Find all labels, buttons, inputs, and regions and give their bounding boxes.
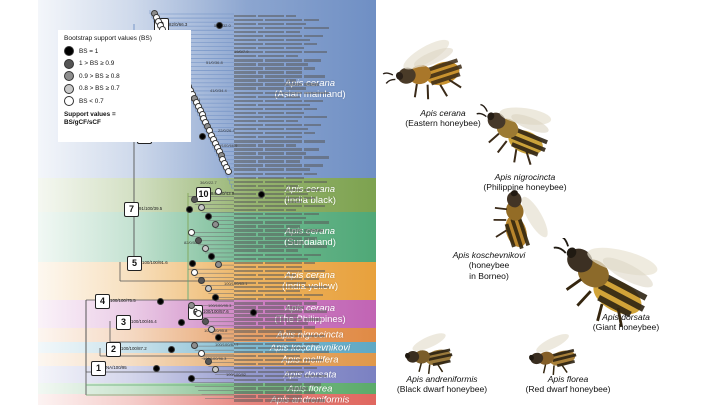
node-support-values: 100/100/91.6	[142, 260, 168, 265]
tip-label-text	[286, 266, 302, 268]
tip-label-text	[286, 55, 298, 57]
tip-label-text	[258, 371, 284, 373]
tip-label-text	[234, 298, 256, 300]
tip-label	[234, 172, 376, 176]
tip-label-text	[304, 221, 329, 223]
tip-label-text	[265, 221, 302, 223]
tip-label-text	[258, 23, 284, 25]
tip-label-text	[304, 367, 317, 369]
tip-label-text	[304, 156, 329, 158]
tip-label-text	[234, 286, 263, 288]
tip-label	[234, 346, 376, 350]
tip-label	[234, 184, 376, 188]
tip-label-text	[265, 100, 302, 102]
tip-label-text	[286, 104, 310, 106]
tip-label-text	[234, 278, 263, 280]
tip-label-text	[286, 120, 298, 122]
tip-label-text	[304, 43, 317, 45]
tip-label-text	[265, 173, 302, 175]
tip-label	[234, 127, 376, 131]
tip-label-text	[265, 391, 302, 393]
tip-label-text	[258, 241, 284, 243]
tip-label	[234, 131, 376, 135]
tip-label-text	[234, 274, 256, 276]
tip-label-text	[258, 225, 284, 227]
tip-label-text	[265, 245, 302, 247]
node-number-badge: 4	[95, 294, 110, 309]
tip-label	[234, 273, 376, 277]
tip-label	[234, 152, 376, 156]
tip-label-text	[304, 75, 325, 77]
support-value-dot	[195, 310, 202, 317]
tip-label-text	[304, 189, 321, 191]
tip-label	[234, 95, 376, 99]
apis-andreniformis-caption: Apis andreniformis (Black dwarf honeybee…	[372, 374, 512, 395]
apis-dorsata-caption: Apis dorsata (Giant honeybee)	[556, 312, 696, 333]
tip-label	[234, 14, 376, 18]
tip-label-text	[304, 108, 317, 110]
tip-label	[234, 354, 376, 358]
tip-label-text	[234, 245, 263, 247]
support-value-dot	[212, 221, 219, 228]
tip-label	[234, 249, 376, 253]
tip-label-text	[304, 229, 323, 231]
tip-label-text	[265, 294, 302, 296]
tip-label-text	[234, 330, 256, 332]
tip-label-text	[304, 278, 319, 280]
tip-label-text	[258, 63, 284, 65]
tip-label-text	[265, 302, 302, 304]
tip-label	[234, 233, 376, 237]
tip-label-text	[234, 128, 256, 130]
legend-title: Bootstrap support values (BS)	[64, 35, 185, 42]
tip-label	[234, 225, 376, 229]
tip-label-text	[234, 75, 263, 77]
node-support-values: NA/100/95	[106, 365, 127, 370]
tip-label-text	[286, 160, 300, 162]
tip-label-text	[304, 245, 327, 247]
tip-label-text	[304, 132, 315, 134]
tip-label-text	[265, 335, 302, 337]
tip-label-text	[265, 197, 302, 199]
tip-label-text	[304, 116, 327, 118]
bee-photo-panel: Apis cerana (Eastern honeybee) Apis nigr…	[376, 0, 720, 405]
node-support-values: 100/100/75.5	[110, 298, 136, 303]
branch-support-values: 100/100/95.3	[208, 303, 231, 308]
tip-label-text	[234, 249, 256, 251]
tip-label-text	[234, 217, 256, 219]
tip-label-text	[234, 201, 256, 203]
tip-label	[234, 192, 376, 196]
apis-cerana-photo	[380, 38, 476, 108]
tip-label	[234, 38, 376, 42]
tip-label-text	[234, 19, 263, 21]
tip-label	[234, 334, 376, 338]
tip-label	[234, 370, 376, 374]
tip-label-text	[234, 124, 263, 126]
tip-label-text	[234, 160, 256, 162]
tip-label-text	[265, 375, 302, 377]
tip-label	[234, 366, 376, 370]
tip-label-text	[265, 262, 302, 264]
tip-label-text	[304, 59, 321, 61]
branch-support-values: 51/0/36.8	[206, 60, 223, 65]
tip-label-text	[304, 19, 319, 21]
tip-label-text	[265, 164, 302, 166]
branch-support-values: 22/0/26.4	[218, 128, 235, 133]
tip-label	[234, 318, 376, 322]
tip-label-text	[258, 274, 284, 276]
tip-label	[234, 277, 376, 281]
tip-label-text	[286, 355, 300, 357]
tip-label-text	[304, 213, 319, 215]
tip-label	[234, 265, 376, 269]
tip-label	[234, 200, 376, 204]
tip-label	[234, 326, 376, 330]
tip-label-text	[234, 379, 256, 381]
support-value-dot	[212, 294, 219, 301]
tip-label	[234, 229, 376, 233]
tip-label	[234, 293, 376, 297]
tip-label-text	[234, 193, 256, 195]
tip-label-text	[258, 55, 284, 57]
tip-label-text	[304, 35, 323, 37]
tip-label-text	[286, 379, 298, 381]
node-number-badge: 7	[124, 202, 139, 217]
tip-label	[234, 379, 376, 383]
node-number-badge: 3	[116, 315, 131, 330]
tip-label-text	[234, 355, 256, 357]
tip-label-text	[286, 177, 304, 179]
tip-label-text	[258, 144, 284, 146]
tip-label-text	[234, 270, 263, 272]
tip-label-text	[286, 144, 296, 146]
tip-label-text	[258, 258, 284, 260]
tip-label-text	[258, 217, 284, 219]
tip-label	[234, 87, 376, 91]
tip-label-text	[258, 79, 284, 81]
tip-label	[234, 395, 376, 399]
support-value-dot	[153, 365, 160, 372]
tip-label-text	[234, 132, 263, 134]
tip-label-text	[234, 359, 263, 361]
tip-label-text	[234, 225, 256, 227]
tip-label-text	[265, 229, 302, 231]
tip-label	[234, 55, 376, 59]
tip-label-text	[286, 249, 298, 251]
tip-label-text	[286, 209, 296, 211]
tip-label-text	[265, 75, 302, 77]
legend-footer-line1: Support values =	[64, 111, 116, 118]
support-value-dot	[199, 133, 206, 140]
tip-label-text	[304, 326, 315, 328]
tip-label-text	[265, 326, 302, 328]
tip-label	[234, 26, 376, 30]
tip-label-text	[304, 254, 321, 256]
tip-label	[234, 338, 376, 342]
tip-label-text	[265, 67, 302, 69]
tip-label-text	[286, 15, 296, 17]
tip-label-text	[234, 322, 256, 324]
tip-label-text	[286, 87, 306, 89]
tip-label-text	[258, 185, 284, 187]
branch-support-values: 41/0/34.4	[210, 88, 227, 93]
tip-label-text	[234, 391, 263, 393]
tip-label	[234, 148, 376, 152]
tip-label-text	[258, 298, 284, 300]
tip-label	[234, 253, 376, 257]
tip-label-text	[234, 229, 263, 231]
tip-label-text	[258, 87, 284, 89]
legend-swatch-circle-icon	[64, 59, 74, 69]
tip-label-text	[234, 181, 263, 183]
tip-label	[234, 79, 376, 83]
tip-label	[234, 46, 376, 50]
tip-label	[234, 18, 376, 22]
tip-label-text	[234, 104, 256, 106]
tip-label-text	[304, 148, 319, 150]
tip-label-text	[234, 233, 256, 235]
tip-label-text	[265, 189, 302, 191]
tip-label-text	[286, 233, 310, 235]
support-value-dot	[168, 346, 175, 353]
tip-label	[234, 59, 376, 63]
tip-label-text	[286, 71, 302, 73]
tip-label-text	[234, 164, 263, 166]
tip-label-text	[258, 104, 284, 106]
apis-andreniformis-photo	[398, 332, 464, 380]
tip-label-text	[265, 343, 302, 345]
tip-label-text	[265, 383, 302, 385]
tip-label-text	[234, 96, 256, 98]
tip-label	[234, 204, 376, 208]
tip-label-text	[234, 290, 256, 292]
tip-label-text	[234, 108, 263, 110]
tip-label-text	[286, 225, 300, 227]
tip-label-text	[234, 213, 263, 215]
phylogenetic-tree-panel: Apis cerana(Asian mainland)Apis cerana(I…	[38, 0, 376, 405]
tip-label	[234, 241, 376, 245]
tip-label-text	[234, 266, 256, 268]
tip-label	[234, 217, 376, 221]
tip-label	[234, 180, 376, 184]
legend-swatch-circle-icon	[64, 96, 74, 106]
tip-label-text	[234, 351, 263, 353]
tip-label-text	[258, 330, 284, 332]
tip-label-text	[286, 96, 300, 98]
tip-label-text	[286, 201, 302, 203]
tip-label-text	[304, 335, 325, 337]
apis-florea-caption: Apis florea (Red dwarf honeybee)	[504, 374, 632, 395]
tip-label-text	[258, 120, 284, 122]
tip-label-text	[265, 116, 302, 118]
tip-label-text	[265, 399, 302, 401]
tip-label-text	[265, 367, 302, 369]
apis-nigrocincta-photo	[468, 98, 564, 170]
tip-label-text	[265, 59, 302, 61]
tip-label-text	[234, 31, 256, 33]
tip-label	[234, 50, 376, 54]
tip-label	[234, 34, 376, 38]
support-value-dot	[202, 318, 209, 325]
tip-label-text	[265, 254, 302, 256]
tip-label-text	[304, 399, 325, 401]
tip-label-text	[234, 177, 256, 179]
tip-label-text	[234, 221, 263, 223]
tip-label-text	[265, 43, 302, 45]
tip-label-text	[234, 395, 256, 397]
tip-label-text	[304, 205, 325, 207]
tip-label-text	[234, 262, 263, 264]
tip-label-text	[234, 39, 256, 41]
tip-label	[234, 107, 376, 111]
tip-label-text	[286, 330, 302, 332]
node-number-badge: 5	[127, 256, 142, 271]
tip-label-text	[234, 120, 256, 122]
tip-label	[234, 136, 376, 140]
tip-label-text	[304, 92, 329, 94]
tip-label-text	[258, 168, 284, 170]
legend-swatch-circle-icon	[64, 71, 74, 81]
tip-label	[234, 111, 376, 115]
apis-koschevnikovi-caption: Apis koschevnikovi (honeybee in Borneo)	[414, 250, 564, 281]
tip-label	[234, 212, 376, 216]
tip-label-text	[265, 19, 302, 21]
caption-common: (Red dwarf honeybee)	[504, 384, 632, 394]
tip-label	[234, 362, 376, 366]
tip-label-text	[234, 205, 263, 207]
tip-label-text	[258, 128, 284, 130]
tip-label-text	[265, 148, 302, 150]
tip-label-text	[234, 254, 263, 256]
tip-label-text	[286, 152, 306, 154]
tip-label-text	[234, 152, 256, 154]
tip-label-text	[258, 379, 284, 381]
tip-label-text	[234, 67, 263, 69]
tip-label-text	[258, 290, 284, 292]
legend-item: 0.8 > BS ≥ 0.7	[64, 84, 185, 94]
tip-label	[234, 342, 376, 346]
tip-label-text	[234, 55, 256, 57]
tip-label-text	[304, 67, 315, 69]
tip-label-text	[234, 136, 256, 138]
tip-label	[234, 387, 376, 391]
legend-item-label: BS < 0.7	[79, 98, 104, 105]
tip-label	[234, 99, 376, 103]
support-value-dot	[225, 168, 232, 175]
tip-label-text	[304, 181, 327, 183]
support-value-dot	[188, 302, 195, 309]
tip-label-text	[234, 43, 263, 45]
tip-label-text	[258, 387, 284, 389]
tip-label-text	[304, 100, 323, 102]
tip-label-text	[286, 347, 306, 349]
legend-item: 1 > BS ≥ 0.9	[64, 59, 185, 69]
tip-label	[234, 281, 376, 285]
tip-label-text	[258, 209, 284, 211]
caption-species: Apis dorsata	[556, 312, 696, 322]
tip-label-text	[265, 318, 302, 320]
legend-item: 0.9 > BS ≥ 0.8	[64, 71, 185, 81]
caption-species: Apis koschevnikovi	[414, 250, 564, 260]
tip-label	[234, 358, 376, 362]
tip-label-text	[258, 322, 284, 324]
tip-label-text	[286, 47, 304, 49]
tip-label-text	[265, 278, 302, 280]
tip-label	[234, 330, 376, 334]
tip-label-text	[286, 136, 302, 138]
tip-label-text	[286, 128, 308, 130]
tip-label-text	[258, 266, 284, 268]
tip-label	[234, 164, 376, 168]
tip-label-text	[258, 112, 284, 114]
tip-label	[234, 221, 376, 225]
tip-label-text	[286, 306, 304, 308]
tip-label-text	[265, 359, 302, 361]
tip-label-text	[286, 298, 310, 300]
tip-label-text	[304, 310, 327, 312]
tip-label	[234, 123, 376, 127]
tip-label	[234, 119, 376, 123]
caption-common: (Black dwarf honeybee)	[372, 384, 512, 394]
support-value-dot	[157, 298, 164, 305]
tip-label-text	[234, 156, 263, 158]
tip-label-text	[234, 185, 256, 187]
tip-label-text	[304, 124, 321, 126]
branch-support-values: 100/100/63.1	[224, 281, 247, 286]
tip-label-text	[258, 136, 284, 138]
tip-label	[234, 22, 376, 26]
support-value-dot	[189, 260, 196, 267]
tip-label	[234, 391, 376, 395]
tip-label-text	[234, 112, 256, 114]
node-number-badge: 2	[106, 342, 121, 357]
node-support-values: 82/0/66.3	[169, 22, 187, 27]
tip-label	[234, 103, 376, 107]
tip-label	[234, 383, 376, 387]
tip-label-text	[258, 306, 284, 308]
tip-label	[234, 257, 376, 261]
tip-label-text	[258, 201, 284, 203]
tip-label-text	[234, 258, 256, 260]
tip-label	[234, 245, 376, 249]
tip-label-text	[258, 31, 284, 33]
tip-label	[234, 63, 376, 67]
tip-label-text	[234, 63, 256, 65]
tip-label-text	[234, 310, 263, 312]
tip-label-text	[286, 395, 302, 397]
caption-common: (Giant honeybee)	[556, 322, 696, 332]
tip-label-text	[234, 83, 263, 85]
tip-label-text	[234, 383, 263, 385]
tip-label-text	[286, 217, 306, 219]
tip-label-text	[265, 27, 302, 29]
tip-label-text	[286, 274, 296, 276]
tip-label-text	[234, 326, 263, 328]
tip-labels-column	[234, 8, 376, 402]
tip-label-text	[258, 233, 284, 235]
tip-label-text	[234, 116, 263, 118]
tip-label-text	[234, 87, 256, 89]
tip-label-text	[258, 339, 284, 341]
tip-label-text	[265, 108, 302, 110]
tip-label	[234, 269, 376, 273]
tip-label-text	[286, 79, 296, 81]
legend-item-label: 0.9 > BS ≥ 0.8	[79, 73, 120, 80]
tip-label-text	[258, 15, 284, 17]
tip-label-text	[304, 51, 327, 53]
tip-label-text	[258, 363, 284, 365]
